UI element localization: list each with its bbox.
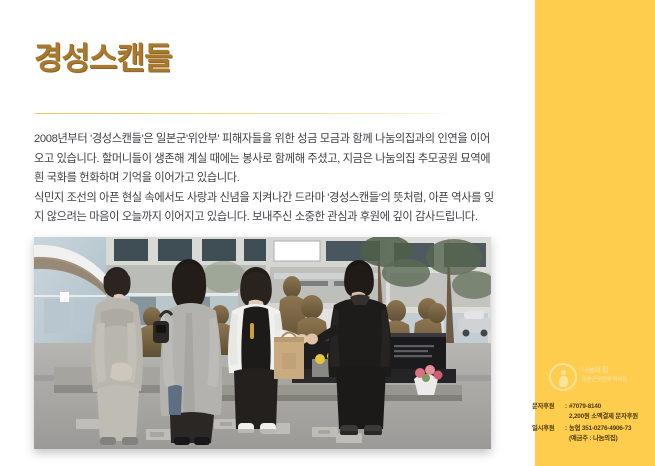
body-copy: 2008년부터 '경성스캔들'은 일본군'위안부' 피해자들을 위한 성금 모금… <box>34 130 494 228</box>
logo-text: 나눔의 집 일본군'위안부'역사관 <box>582 366 646 385</box>
body-paragraph-2: 식민지 조선의 아픈 현실 속에서도 사랑과 신념을 지켜나간 드라마 '경성스… <box>34 189 494 228</box>
donation-info: 문자후원 : #7079-8140 2,200원 소액결제 문자후원 일시후원 … <box>532 402 652 443</box>
donation-row-bank: 일시후원 : 농협 351-0276-4906-73 <box>532 424 652 434</box>
organization-logo: 나눔의 집 일본군'위안부'역사관 <box>549 361 645 394</box>
donation-value-bank: 농협 351-0276-4906-73 <box>569 424 652 434</box>
logo-name-line1: 나눔의 집 <box>582 366 646 376</box>
nanum-house-logo-icon <box>549 363 577 391</box>
logo-name-line2: 일본군'위안부'역사관 <box>582 376 646 385</box>
side-panel <box>535 0 655 466</box>
logo-figure-head <box>561 370 566 375</box>
body-paragraph-1: 2008년부터 '경성스캔들'은 일본군'위안부' 피해자들을 위한 성금 모금… <box>34 130 494 189</box>
logo-figure-body <box>559 376 568 387</box>
memorial-photo <box>34 237 491 449</box>
donation-value-sms: #7079-8140 <box>569 402 652 412</box>
donation-label-sms: 문자후원 <box>532 402 563 412</box>
donation-label-bank: 일시후원 <box>532 424 563 434</box>
page-title: 경성스캔들 <box>34 42 172 76</box>
donation-sub-bank: (예금주 : 나눔의집) <box>569 434 652 444</box>
page-root: 경성스캔들 2008년부터 '경성스캔들'은 일본군'위안부' 피해자들을 위한… <box>0 0 655 466</box>
donation-sub-sms: 2,200원 소액결제 문자후원 <box>569 412 652 422</box>
photo-frame <box>34 237 491 449</box>
donation-row-sms: 문자후원 : #7079-8140 <box>532 402 652 412</box>
title-divider <box>35 113 440 114</box>
